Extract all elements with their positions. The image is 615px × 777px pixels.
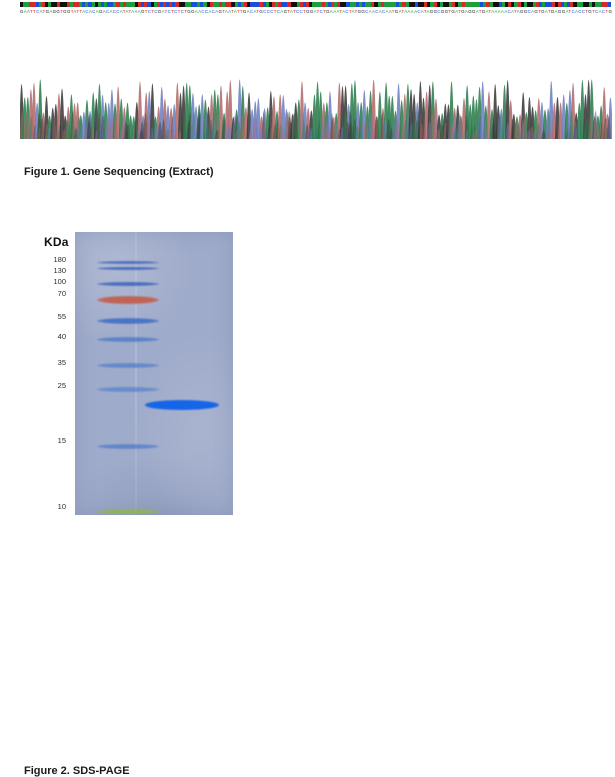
ladder-band-70	[97, 296, 159, 304]
ladder-band-100	[97, 282, 159, 286]
chromatogram-trace	[20, 22, 612, 140]
figure-1-gene-sequencing: GAATTCATGAGGTGGTATTACACAGACACCATATAAAGTC…	[0, 0, 615, 190]
mw-label-10: 10	[40, 502, 66, 511]
ladder-band-25	[97, 387, 159, 392]
mw-label-25: 25	[40, 381, 66, 390]
figure-1-caption: Figure 1. Gene Sequencing (Extract)	[24, 166, 214, 178]
sequence-letters: GAATTCATGAGGTGGTATTACACAGACACCATATAAAGTC…	[20, 7, 612, 16]
gel-image	[75, 232, 233, 515]
ladder-band-35	[97, 363, 159, 368]
sample-band	[145, 400, 219, 410]
ladder-band-180	[97, 261, 159, 264]
ladder-band-10	[97, 509, 159, 514]
mw-label-180: 180	[40, 255, 66, 264]
sequence-strip: GAATTCATGAGGTGGTATTACACAGACACCATATAAAGTC…	[20, 2, 612, 16]
mw-label-35: 35	[40, 358, 66, 367]
kda-axis-title: KDa	[44, 235, 69, 249]
figure-2-caption: Figure 2. SDS-PAGE	[24, 765, 130, 777]
ladder-band-15	[97, 444, 159, 449]
mw-label-55: 55	[40, 312, 66, 321]
mw-label-15: 15	[40, 436, 66, 445]
ladder-band-55	[97, 318, 159, 324]
ladder-band-130	[97, 267, 159, 270]
lane-divider	[135, 232, 137, 515]
mw-label-40: 40	[40, 332, 66, 341]
figure-2-sds-page: KDa 18013010070554035251510 Figure 2. SD…	[0, 225, 615, 525]
mw-label-100: 100	[40, 277, 66, 286]
ladder-band-40	[97, 337, 159, 342]
mw-label-130: 130	[40, 266, 66, 275]
mw-label-70: 70	[40, 289, 66, 298]
gel-texture	[75, 232, 233, 515]
